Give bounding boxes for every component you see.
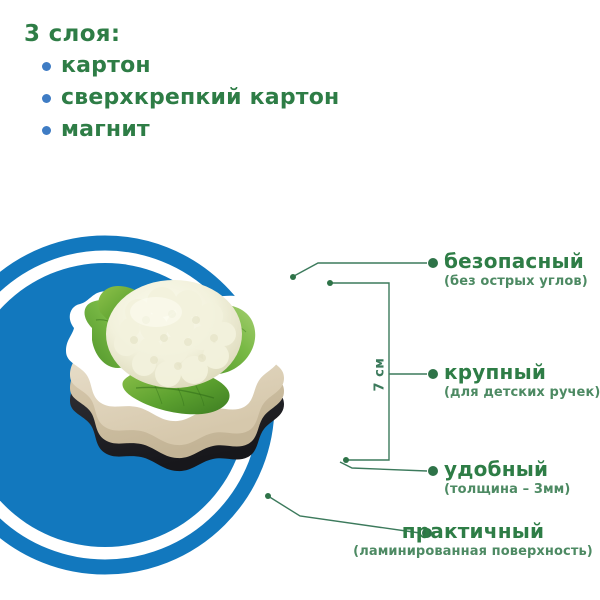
feature-large: крупный (для детских ручек): [444, 362, 600, 400]
leader-lines: [268, 263, 427, 533]
leader-endpoint-dots: [422, 258, 438, 538]
feature-title: крупный: [444, 362, 600, 383]
feature-subtitle: (без острых углов): [444, 275, 588, 289]
product-illustration: [0, 0, 600, 600]
dimension-label: 7 см: [373, 352, 388, 392]
layer-photo-face: [66, 280, 280, 421]
infographic-canvas: 3 слоя: картон сверхкрепкий картон магни…: [0, 0, 600, 600]
feature-subtitle: (для детских ручек): [444, 386, 600, 400]
feature-title: практичный: [349, 521, 597, 542]
feature-subtitle: (ламинированная поверхность): [349, 545, 597, 559]
feature-title: безопасный: [444, 251, 588, 272]
feature-title: удобный: [444, 459, 570, 480]
feature-convenient: удобный (толщина – 3мм): [444, 459, 570, 497]
feature-practical: практичный (ламинированная поверхность): [349, 521, 597, 559]
feature-safe: безопасный (без острых углов): [444, 251, 588, 289]
feature-subtitle: (толщина – 3мм): [444, 483, 570, 497]
